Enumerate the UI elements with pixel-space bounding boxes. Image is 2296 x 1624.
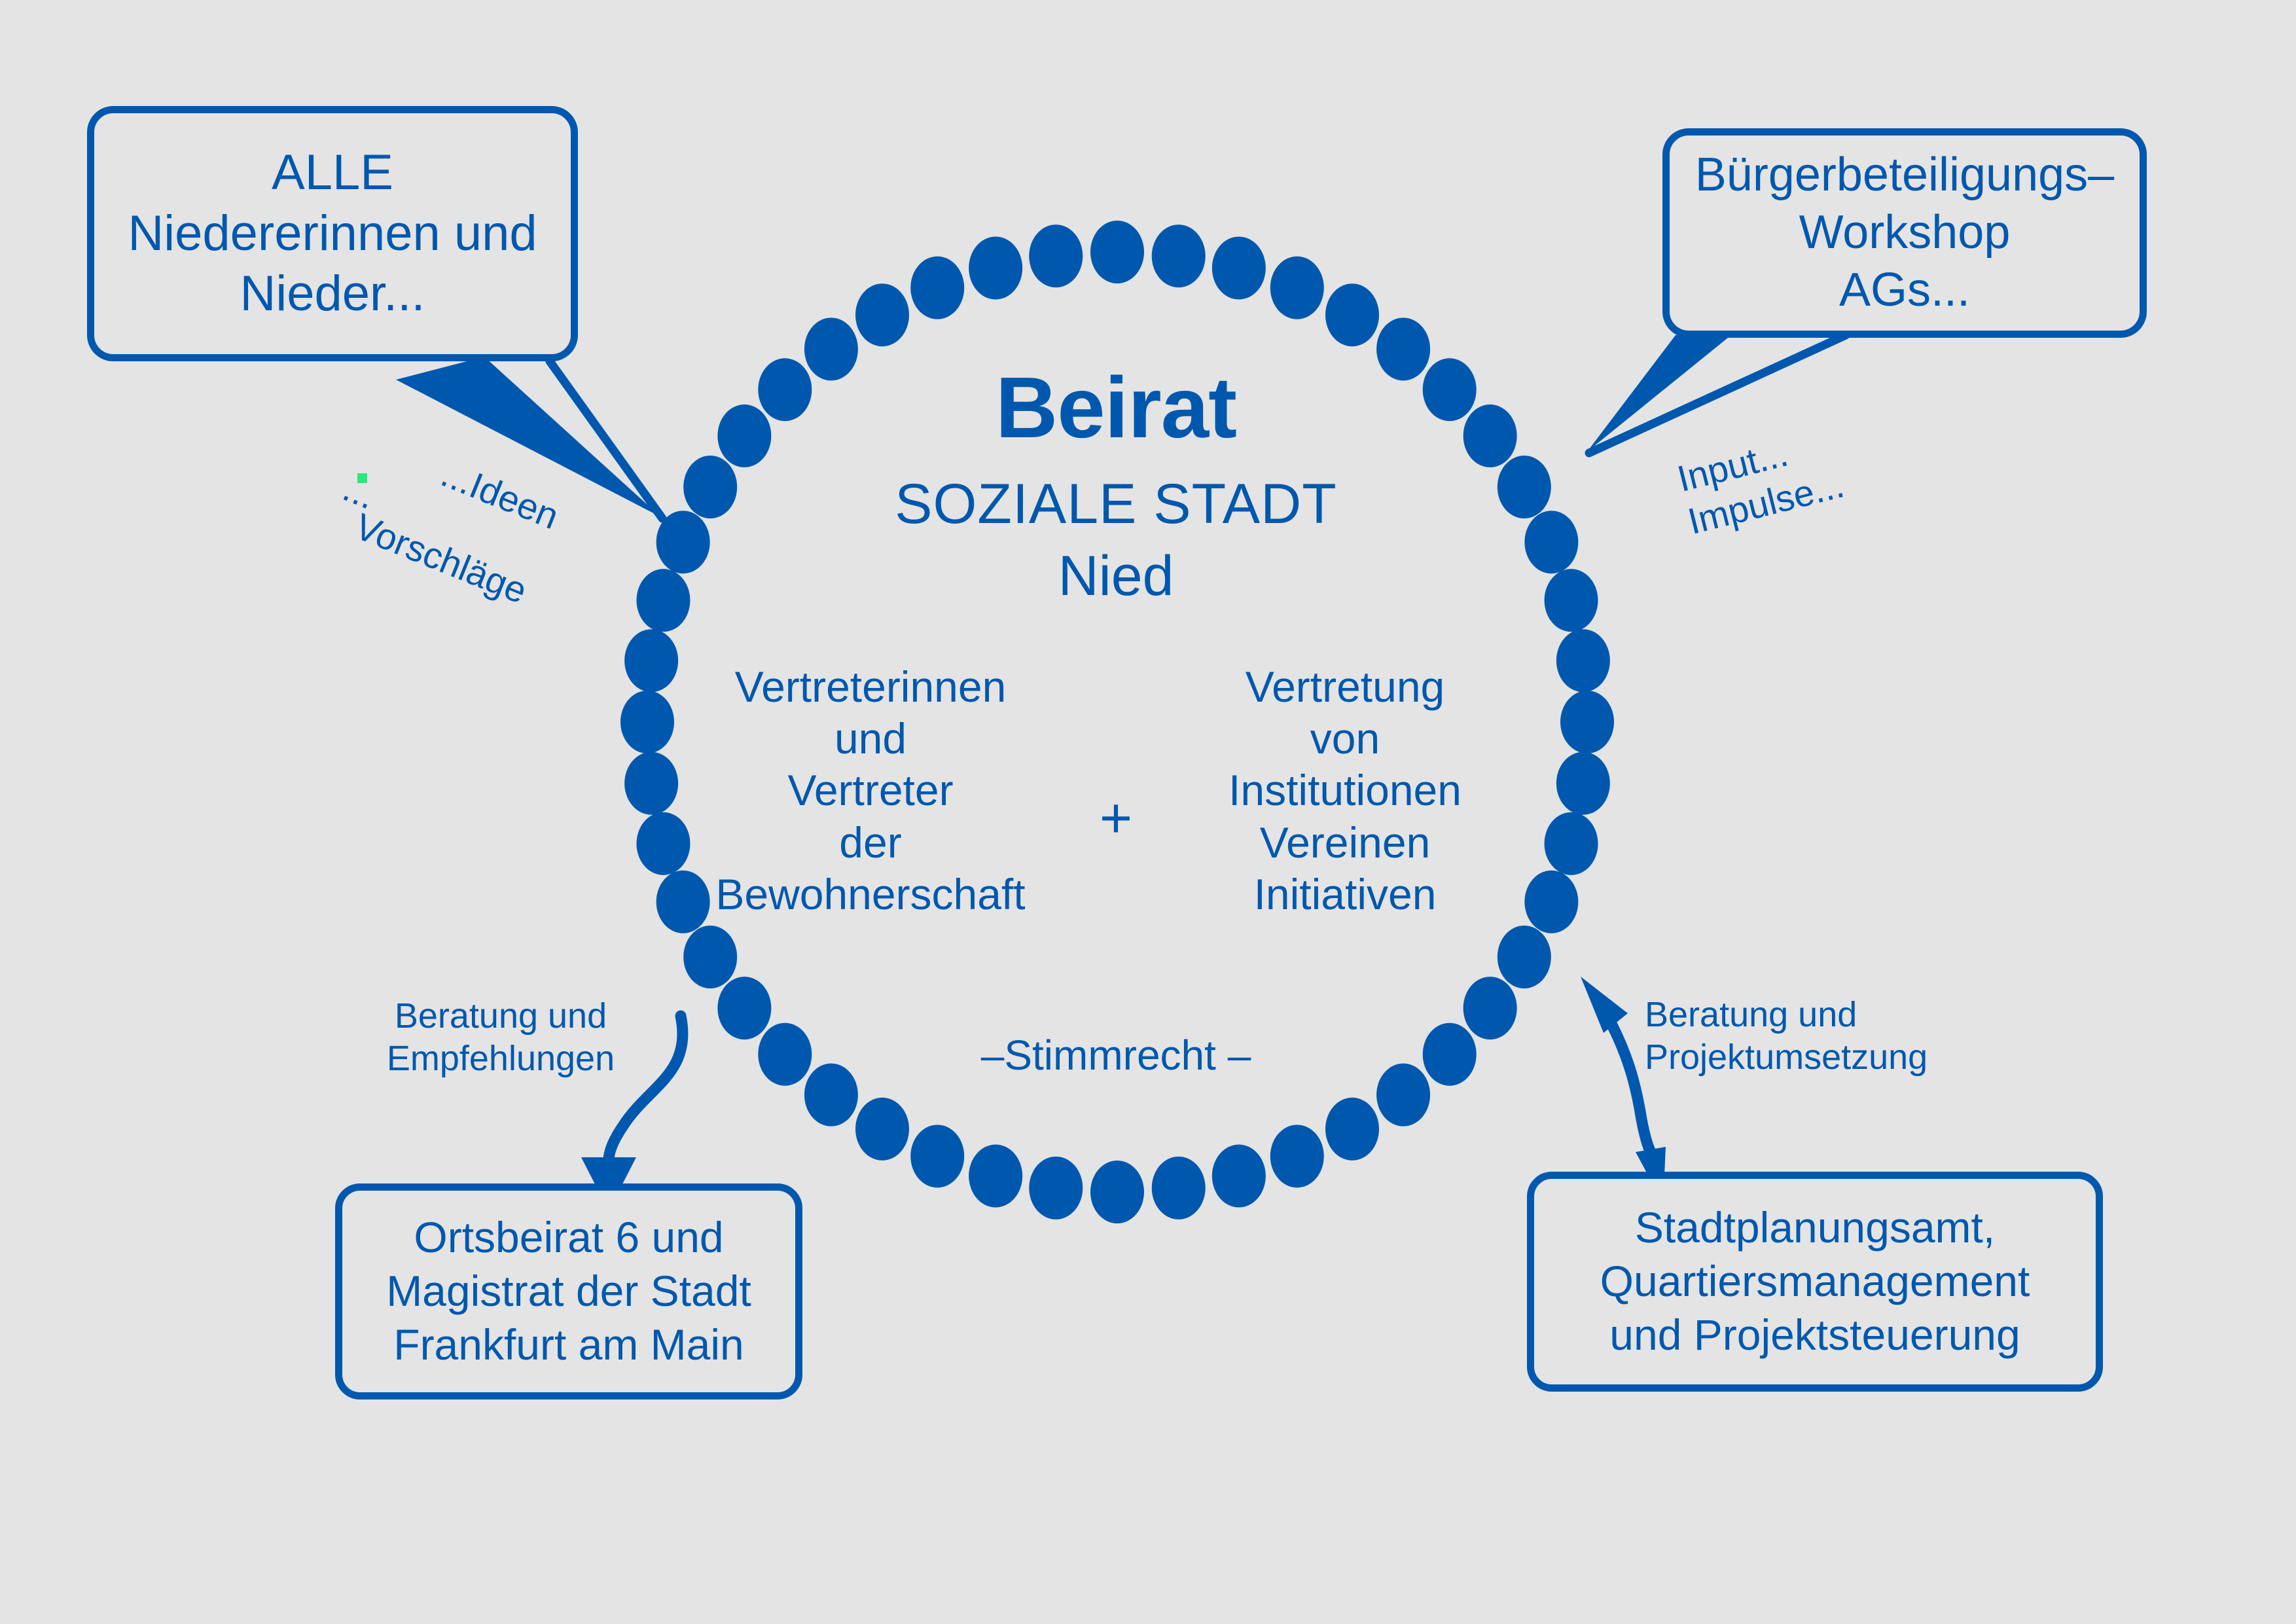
ring-dot — [1376, 1064, 1430, 1127]
speech-bubble-workshop[interactable]: Bürgerbeteiligungs– Workshop AGs... — [1662, 128, 2147, 338]
ring-dot — [1524, 511, 1578, 573]
box-ortsbeirat-magistrat-label: Ortsbeirat 6 und Magistrat der Stadt Fra… — [386, 1211, 751, 1371]
ring-dot — [910, 257, 964, 319]
box-ortsbeirat-magistrat[interactable]: Ortsbeirat 6 und Magistrat der Stadt Fra… — [335, 1183, 802, 1399]
ring-dot — [683, 456, 737, 518]
ring-dot — [1556, 752, 1610, 815]
speech-bubble-residents[interactable]: ALLE Niedererinnen und Nieder... — [87, 106, 578, 361]
ring-dot — [636, 569, 690, 632]
center-plus-sign: + — [1073, 785, 1158, 852]
ring-dot — [1029, 225, 1083, 287]
ring-dot — [717, 977, 771, 1039]
center-subtitle: SOZIALE STADT — [812, 471, 1420, 537]
ring-dot — [855, 283, 909, 346]
box-stadtplanungsamt-label: Stadtplanungsamt, Quartiersmanagement un… — [1600, 1201, 2030, 1362]
ring-dot — [910, 1125, 964, 1187]
annotation-beratung-empfehlungen: Beratung und Empfehlungen — [380, 995, 622, 1080]
speech-tail-right — [1587, 335, 1731, 452]
annotation-beratung-projektumsetzung: Beratung und Projektumsetzung — [1645, 994, 1952, 1079]
ring-dot — [717, 405, 771, 467]
ring-dot — [1463, 405, 1517, 467]
ring-dot — [1545, 569, 1598, 632]
ring-dot — [1270, 257, 1324, 319]
arrow-right-head-up — [1581, 977, 1628, 1033]
ring-dot — [624, 752, 678, 815]
center-voting-rights-note: –Stimmrecht – — [920, 1031, 1312, 1081]
ring-dot — [1090, 221, 1144, 283]
center-column-institutions: Vertretung von Institutionen Vereinen In… — [1181, 661, 1509, 920]
center-column-residents: Vertreterinnen und Vertreter der Bewohne… — [694, 661, 1047, 920]
ring-dot — [1498, 456, 1551, 518]
ring-dot — [1463, 977, 1517, 1039]
ring-dot — [969, 236, 1022, 299]
ring-dot — [969, 1145, 1022, 1208]
speech-bubble-workshop-label: Bürgerbeteiligungs– Workshop AGs... — [1695, 147, 2114, 319]
ring-dot — [1325, 283, 1379, 346]
ring-dot — [656, 511, 710, 573]
ring-dot — [1152, 1157, 1206, 1219]
ring-dot — [1029, 1157, 1083, 1219]
ring-dot — [636, 812, 690, 875]
green-marker-square — [357, 473, 367, 483]
center-title: Beirat — [812, 357, 1420, 459]
ring-dot — [804, 1064, 858, 1127]
ring-dot — [1152, 225, 1206, 287]
center-district: Nied — [812, 543, 1420, 609]
ring-dot — [1560, 691, 1614, 753]
ring-dot — [1498, 926, 1551, 988]
speech-tail-left-edge — [550, 361, 662, 518]
ring-dot — [1423, 358, 1477, 421]
ring-dot — [758, 1023, 812, 1086]
ring-dot — [1090, 1161, 1144, 1223]
ring-dot — [1423, 1023, 1477, 1086]
ring-dot — [1212, 236, 1266, 299]
box-stadtplanungsamt[interactable]: Stadtplanungsamt, Quartiersmanagement un… — [1527, 1172, 2103, 1392]
ring-dot — [855, 1098, 909, 1161]
speech-bubble-residents-label: ALLE Niedererinnen und Nieder... — [128, 143, 537, 325]
ring-dot — [1325, 1098, 1379, 1161]
ring-dot — [683, 926, 737, 988]
ring-dot — [1545, 812, 1598, 875]
ring-dot — [620, 691, 674, 753]
ring-dot — [1556, 629, 1610, 692]
ring-dot — [1524, 871, 1578, 933]
diagram-canvas: ALLE Niedererinnen und Nieder... Bürgerb… — [0, 0, 2296, 1624]
ring-dot — [758, 358, 812, 421]
annotation-ideen: ...Ideen — [435, 452, 565, 538]
ring-dot — [1270, 1125, 1324, 1187]
ring-dot — [1212, 1145, 1266, 1208]
ring-dot — [624, 629, 678, 692]
annotation-input-impulse: Input... Impulse... — [1673, 420, 1848, 543]
